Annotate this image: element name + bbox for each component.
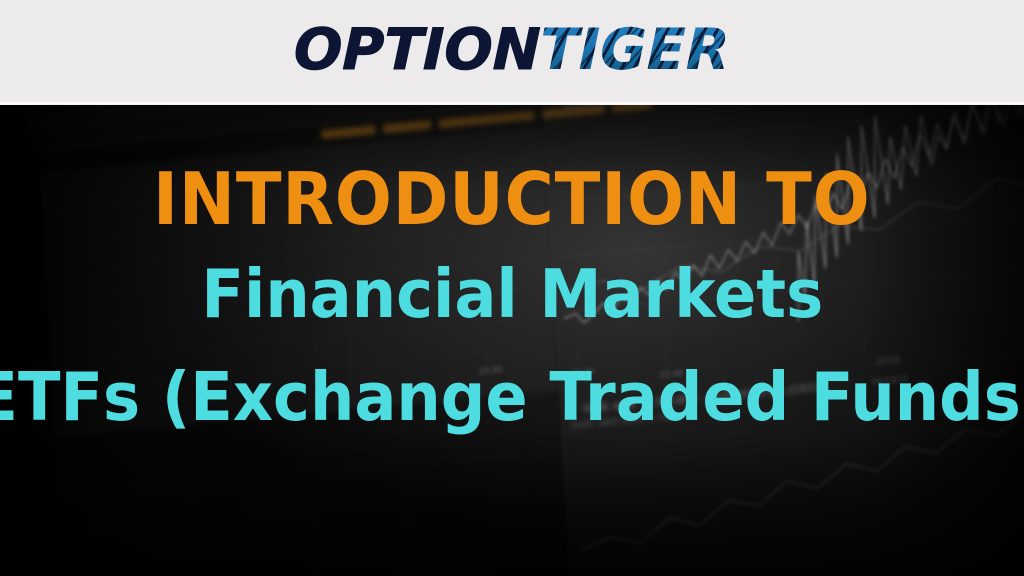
logo-text-tiger: TIGER: [540, 22, 731, 79]
header-band: OPTION TIGER: [0, 0, 1024, 105]
title-block: INTRODUCTION TO Financial Markets ETFs (…: [0, 105, 1024, 576]
optiontiger-logo: OPTION TIGER: [294, 22, 730, 79]
title-line-introduction: INTRODUCTION TO: [153, 163, 871, 235]
title-line-etfs: ETFs (Exchange Traded Funds): [0, 364, 1024, 431]
title-slide: EUR/USD - 1.35379 - 00:00:00 14 giu (CES…: [0, 0, 1024, 576]
logo-text-option: OPTION: [293, 22, 540, 79]
title-line-financial-markets: Financial Markets: [201, 261, 823, 328]
